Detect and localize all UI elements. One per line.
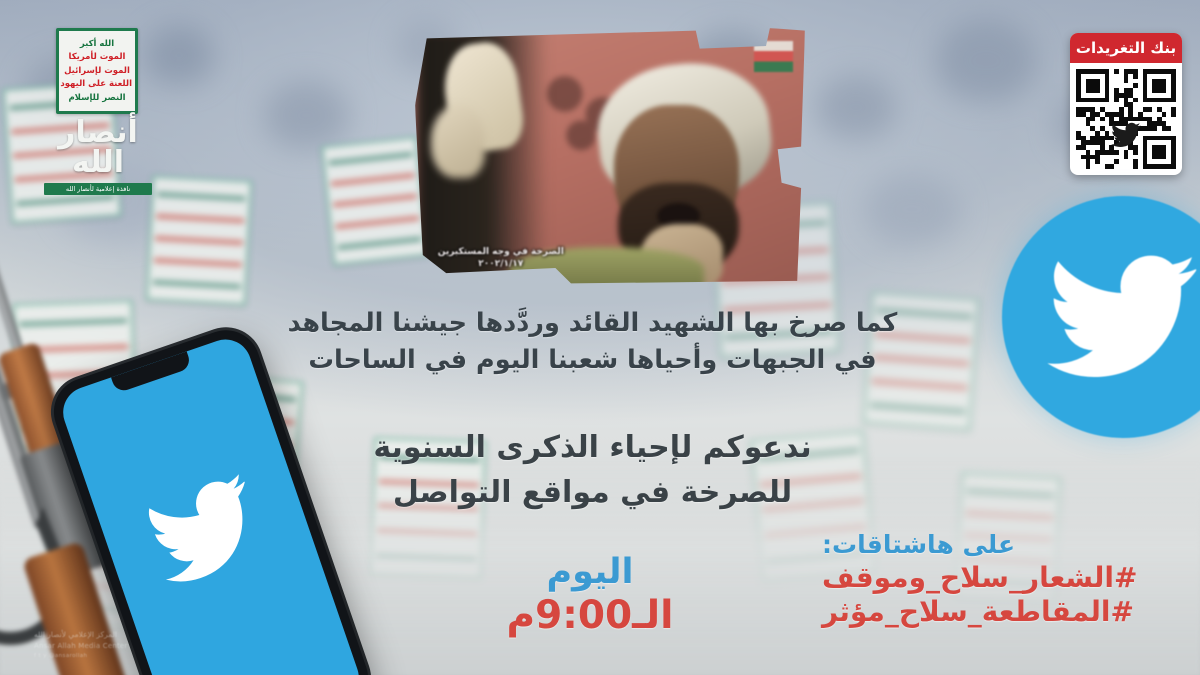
watermark-handles: f t y @ansarollah xyxy=(34,653,204,661)
ansar-allah-wordmark: أنصار الله نافذة إعلامية لأنصار الله xyxy=(44,118,152,195)
poster-canvas: الله أكبر الموت لأمريكا الموت لإسرائيل ا… xyxy=(0,0,1200,675)
houthi-slogan-card: الله أكبر الموت لأمريكا الموت لإسرائيل ا… xyxy=(56,28,138,114)
ansar-calligraphy: أنصار الله xyxy=(44,118,152,178)
subheadline-line-1: ندعوكم لإحياء الذكرى السنوية xyxy=(285,425,900,470)
event-time-label: الـ9:00م xyxy=(410,593,770,639)
qr-code-body[interactable] xyxy=(1070,63,1182,175)
slogan-line-3: الموت لإسرائيل xyxy=(62,67,132,76)
qr-code-matrix[interactable] xyxy=(1076,69,1176,169)
hashtag-item-1[interactable]: #الشعار_سلاح_وموقف xyxy=(822,561,1182,595)
hashtags-block: على هاشتاقات: #الشعار_سلاح_وموقف #المقاط… xyxy=(822,530,1182,629)
media-center-watermark: المركز الإعلامي لأنصار الله Ansar Allah … xyxy=(34,630,204,661)
subheadline-line-2: للصرخة في مواقع التواصل xyxy=(285,470,900,515)
leader-photo: الصرخة في وجه المستكبرين ٢٠٠٢/١/١٧ xyxy=(415,28,805,286)
tweet-bank-qr-card[interactable]: بنك التغريدات xyxy=(1070,33,1182,175)
slogan-line-4: اللعنة على اليهود xyxy=(62,80,132,89)
watermark-english: Ansar Allah Media Center xyxy=(34,641,204,651)
photo-caption: الصرخة في وجه المستكبرين ٢٠٠٢/١/١٧ xyxy=(431,246,571,270)
slogan-line-5: النصر للإسلام xyxy=(62,94,132,103)
slogan-line-1: الله أكبر xyxy=(62,40,132,49)
twitter-bird-icon xyxy=(1047,254,1199,380)
qr-card-header: بنك التغريدات xyxy=(1070,33,1182,63)
hashtag-item-2[interactable]: #المقاطعة_سلاح_مؤثر xyxy=(822,595,1182,629)
ansar-subtitle: نافذة إعلامية لأنصار الله xyxy=(44,183,152,195)
twitter-bird-icon xyxy=(140,470,271,590)
hashtags-lead-label: على هاشتاقات: xyxy=(822,530,1182,561)
subheadline-block: ندعوكم لإحياء الذكرى السنوية للصرخة في م… xyxy=(285,425,900,515)
slogan-line-2: الموت لأمريكا xyxy=(62,53,132,62)
qr-center-twitter-icon xyxy=(1111,122,1141,148)
headline-block: كما صرخ بها الشهيد القائد وردَّدها جيشنا… xyxy=(285,305,900,379)
headline-line-2: في الجبهات وأحياها شعبنا اليوم في الساحا… xyxy=(285,342,900,379)
photo-caption-line1: الصرخة في وجه المستكبرين xyxy=(431,246,571,258)
watermark-arabic: المركز الإعلامي لأنصار الله xyxy=(34,630,204,641)
headline-line-1: كما صرخ بها الشهيد القائد وردَّدها جيشنا… xyxy=(285,305,900,342)
event-time-block: اليوم الـ9:00م xyxy=(410,552,770,639)
event-day-label: اليوم xyxy=(410,552,770,593)
